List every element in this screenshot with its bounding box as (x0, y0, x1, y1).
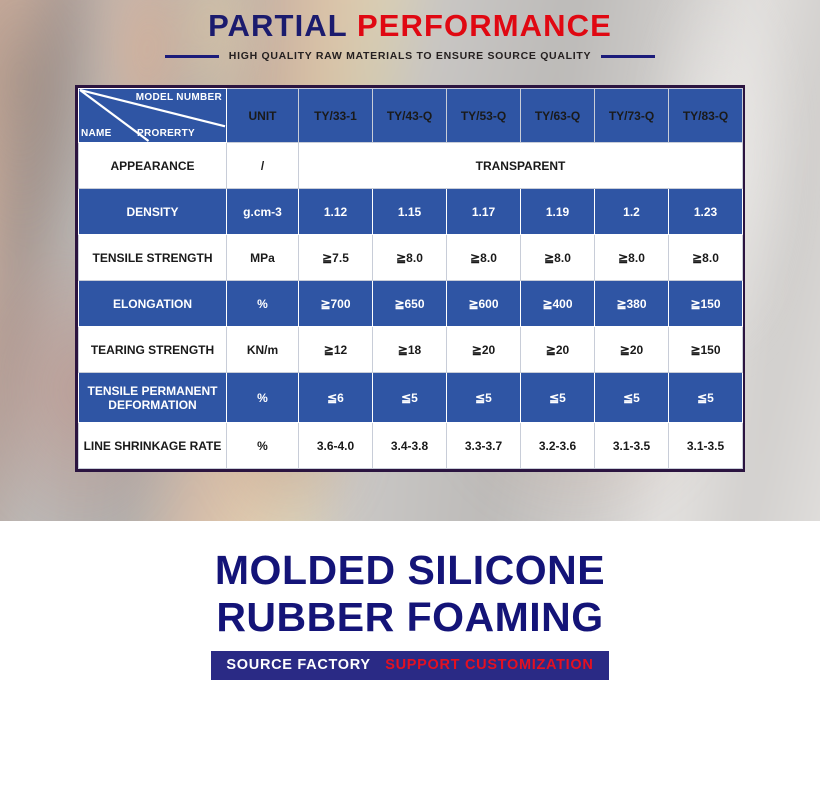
table-cell-value: ≧400 (521, 281, 595, 327)
table-cell-unit: % (227, 281, 299, 327)
table-cell-value: 3.2-3.6 (521, 423, 595, 469)
table-cell-value: ≧380 (595, 281, 669, 327)
table-body: APPEARANCE/TRANSPARENTDENSITYg.cm-31.121… (79, 143, 743, 469)
table-cell-value: 1.17 (447, 189, 521, 235)
table-cell-value: ≧700 (299, 281, 373, 327)
table-cell-property-name: TENSILE STRENGTH (79, 235, 227, 281)
banner-subtitle-row: HIGH QUALITY RAW MATERIALS TO ENSURE SOU… (0, 50, 820, 62)
table-cell-value: ≧20 (595, 327, 669, 373)
page-root: PARTIAL PERFORMANCE HIGH QUALITY RAW MAT… (0, 0, 820, 800)
table-corner-header: MODEL NUMBER PRORERTY NAME (79, 89, 227, 143)
table-cell-value: ≦5 (521, 373, 595, 423)
table-cell-value: ≧18 (373, 327, 447, 373)
table-cell-value: ≧8.0 (521, 235, 595, 281)
table-head: MODEL NUMBER PRORERTY NAME UNIT TY/33-1 … (79, 89, 743, 143)
table-cell-value: ≦5 (595, 373, 669, 423)
table-cell-unit: % (227, 373, 299, 423)
table-cell-value: 3.3-3.7 (447, 423, 521, 469)
banner-heading-group: PARTIAL PERFORMANCE HIGH QUALITY RAW MAT… (0, 0, 820, 62)
table-cell-value: ≦5 (447, 373, 521, 423)
table-header-model-0: TY/33-1 (299, 89, 373, 143)
table-row: ELONGATION%≧700≧650≧600≧400≧380≧150 (79, 281, 743, 327)
table-cell-value: 3.1-3.5 (669, 423, 743, 469)
page-title-part-1: PARTIAL (208, 8, 347, 43)
table-cell-value: ≧8.0 (447, 235, 521, 281)
table-cell-value: ≧20 (521, 327, 595, 373)
table-cell-unit: KN/m (227, 327, 299, 373)
corner-model-label: MODEL NUMBER (136, 92, 222, 103)
table-header-row: MODEL NUMBER PRORERTY NAME UNIT TY/33-1 … (79, 89, 743, 143)
badge-text-secondary: SUPPORT CUSTOMIZATION (385, 657, 593, 673)
rule-left (165, 55, 219, 58)
table-cell-value: ≧12 (299, 327, 373, 373)
table-header-model-4: TY/73-Q (595, 89, 669, 143)
rule-right (601, 55, 655, 58)
table-row: LINE SHRINKAGE RATE%3.6-4.03.4-3.83.3-3.… (79, 423, 743, 469)
table-cell-merged-value: TRANSPARENT (299, 143, 743, 189)
table-header-model-3: TY/63-Q (521, 89, 595, 143)
badge-text-primary: SOURCE FACTORY (226, 657, 370, 673)
page-title: PARTIAL PERFORMANCE (0, 8, 820, 44)
table-cell-unit: g.cm-3 (227, 189, 299, 235)
table-cell-value: 1.15 (373, 189, 447, 235)
specification-table: MODEL NUMBER PRORERTY NAME UNIT TY/33-1 … (78, 88, 743, 469)
table-cell-value: 3.6-4.0 (299, 423, 373, 469)
table-cell-value: 1.12 (299, 189, 373, 235)
table-cell-unit: MPa (227, 235, 299, 281)
table-row: APPEARANCE/TRANSPARENT (79, 143, 743, 189)
table-header-model-5: TY/83-Q (669, 89, 743, 143)
product-headline: MOLDED SILICONE RUBBER FOAMING (0, 547, 820, 641)
table-row: DENSITYg.cm-31.121.151.171.191.21.23 (79, 189, 743, 235)
table-cell-value: ≧600 (447, 281, 521, 327)
product-headline-section: MOLDED SILICONE RUBBER FOAMING SOURCE FA… (0, 521, 820, 800)
table-cell-value: ≧150 (669, 327, 743, 373)
table-cell-value: ≦5 (669, 373, 743, 423)
corner-property-label: PRORERTY (137, 128, 195, 139)
table-cell-value: 1.23 (669, 189, 743, 235)
table-cell-value: ≦5 (373, 373, 447, 423)
table-cell-value: 1.2 (595, 189, 669, 235)
table-cell-value: ≧8.0 (373, 235, 447, 281)
table-header-unit: UNIT (227, 89, 299, 143)
table-header-model-1: TY/43-Q (373, 89, 447, 143)
banner-subtitle: HIGH QUALITY RAW MATERIALS TO ENSURE SOU… (229, 50, 591, 62)
table-row: TENSILE PERMANENT DEFORMATION%≦6≦5≦5≦5≦5… (79, 373, 743, 423)
product-headline-line-2: RUBBER FOAMING (0, 594, 820, 641)
corner-name-label: NAME (81, 128, 112, 139)
table-cell-value: 3.4-3.8 (373, 423, 447, 469)
table-row: TEARING STRENGTHKN/m≧12≧18≧20≧20≧20≧150 (79, 327, 743, 373)
source-factory-badge: SOURCE FACTORY SUPPORT CUSTOMIZATION (211, 651, 608, 680)
table-cell-value: ≧650 (373, 281, 447, 327)
table-cell-property-name: ELONGATION (79, 281, 227, 327)
table-cell-value: 1.19 (521, 189, 595, 235)
table-cell-property-name: TEARING STRENGTH (79, 327, 227, 373)
table-cell-unit: % (227, 423, 299, 469)
specification-table-container: MODEL NUMBER PRORERTY NAME UNIT TY/33-1 … (75, 85, 745, 472)
table-cell-unit: / (227, 143, 299, 189)
table-cell-value: ≧150 (669, 281, 743, 327)
table-cell-property-name: TENSILE PERMANENT DEFORMATION (79, 373, 227, 423)
table-row: TENSILE STRENGTHMPa≧7.5≧8.0≧8.0≧8.0≧8.0≧… (79, 235, 743, 281)
product-headline-line-1: MOLDED SILICONE (0, 547, 820, 594)
table-cell-value: ≧8.0 (669, 235, 743, 281)
table-cell-value: ≦6 (299, 373, 373, 423)
table-header-model-2: TY/53-Q (447, 89, 521, 143)
table-cell-value: ≧8.0 (595, 235, 669, 281)
table-cell-value: ≧7.5 (299, 235, 373, 281)
table-cell-property-name: DENSITY (79, 189, 227, 235)
table-cell-property-name: LINE SHRINKAGE RATE (79, 423, 227, 469)
page-title-part-2: PERFORMANCE (357, 8, 612, 43)
badge-row: SOURCE FACTORY SUPPORT CUSTOMIZATION (0, 651, 820, 680)
table-cell-value: ≧20 (447, 327, 521, 373)
table-cell-property-name: APPEARANCE (79, 143, 227, 189)
performance-banner: PARTIAL PERFORMANCE HIGH QUALITY RAW MAT… (0, 0, 820, 521)
table-cell-value: 3.1-3.5 (595, 423, 669, 469)
